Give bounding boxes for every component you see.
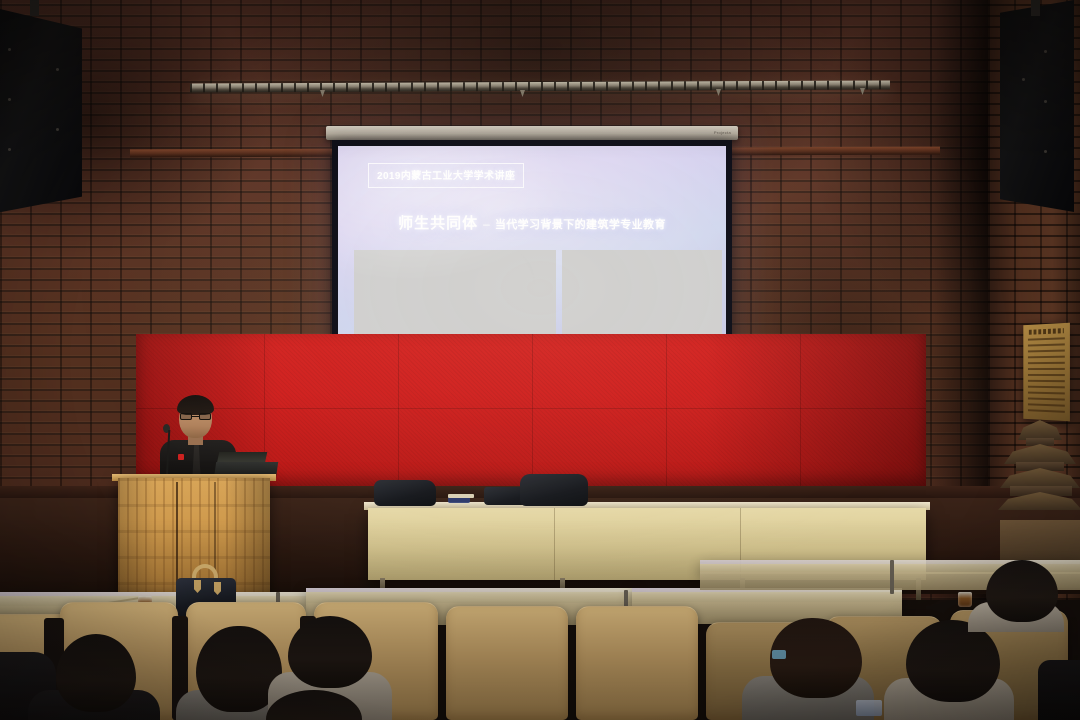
plaque-text-lines — [1028, 337, 1065, 413]
presenter-glasses — [180, 413, 211, 420]
slide-header-badge: 2019内蒙古工业大学学术讲座 — [368, 163, 524, 188]
presenter-hair — [177, 395, 214, 415]
screen-brand-label: Projecta — [714, 130, 731, 135]
speaker-mount-right — [1031, 0, 1040, 16]
line-array-speaker-left — [0, 8, 82, 213]
audience-head — [288, 616, 372, 688]
backpack-on-table — [520, 474, 588, 506]
audience-head — [906, 620, 1000, 702]
plaque-title-line — [1029, 328, 1064, 335]
presenter-lapel-badge — [178, 454, 184, 460]
audience-head — [56, 634, 136, 712]
bag-on-table — [374, 480, 436, 506]
auditorium-seat — [576, 606, 698, 720]
slide-title-dash: – — [483, 217, 490, 231]
slide-header-text: 2019内蒙古工业大学学术讲座 — [377, 171, 515, 182]
eyeglasses-temple — [772, 650, 786, 659]
projection-screen-housing: Projecta — [326, 126, 738, 140]
phone-screen — [856, 700, 882, 716]
slide-title-main: 师生共同体 — [398, 215, 478, 232]
speaker-mount-left — [30, 0, 39, 16]
slide-title-subtitle: 当代学习背景下的建筑学专业教育 — [495, 219, 666, 231]
tea-glass-right — [958, 592, 972, 607]
paper-on-table — [448, 494, 474, 498]
line-array-speaker-right — [1000, 0, 1074, 212]
slide-title: 师生共同体–当代学习背景下的建筑学专业教育 — [338, 212, 726, 233]
lecture-hall-photo: Projecta 2019内蒙古工业大学学术讲座 师生共同体–当代学习背景下的建… — [0, 0, 1080, 720]
pagoda-model — [1000, 420, 1080, 530]
desk-support-rail — [890, 560, 894, 594]
audience-head — [986, 560, 1058, 622]
wall-plaque — [1023, 323, 1070, 422]
audience-jacket — [1038, 660, 1080, 720]
auditorium-seat — [446, 606, 568, 720]
